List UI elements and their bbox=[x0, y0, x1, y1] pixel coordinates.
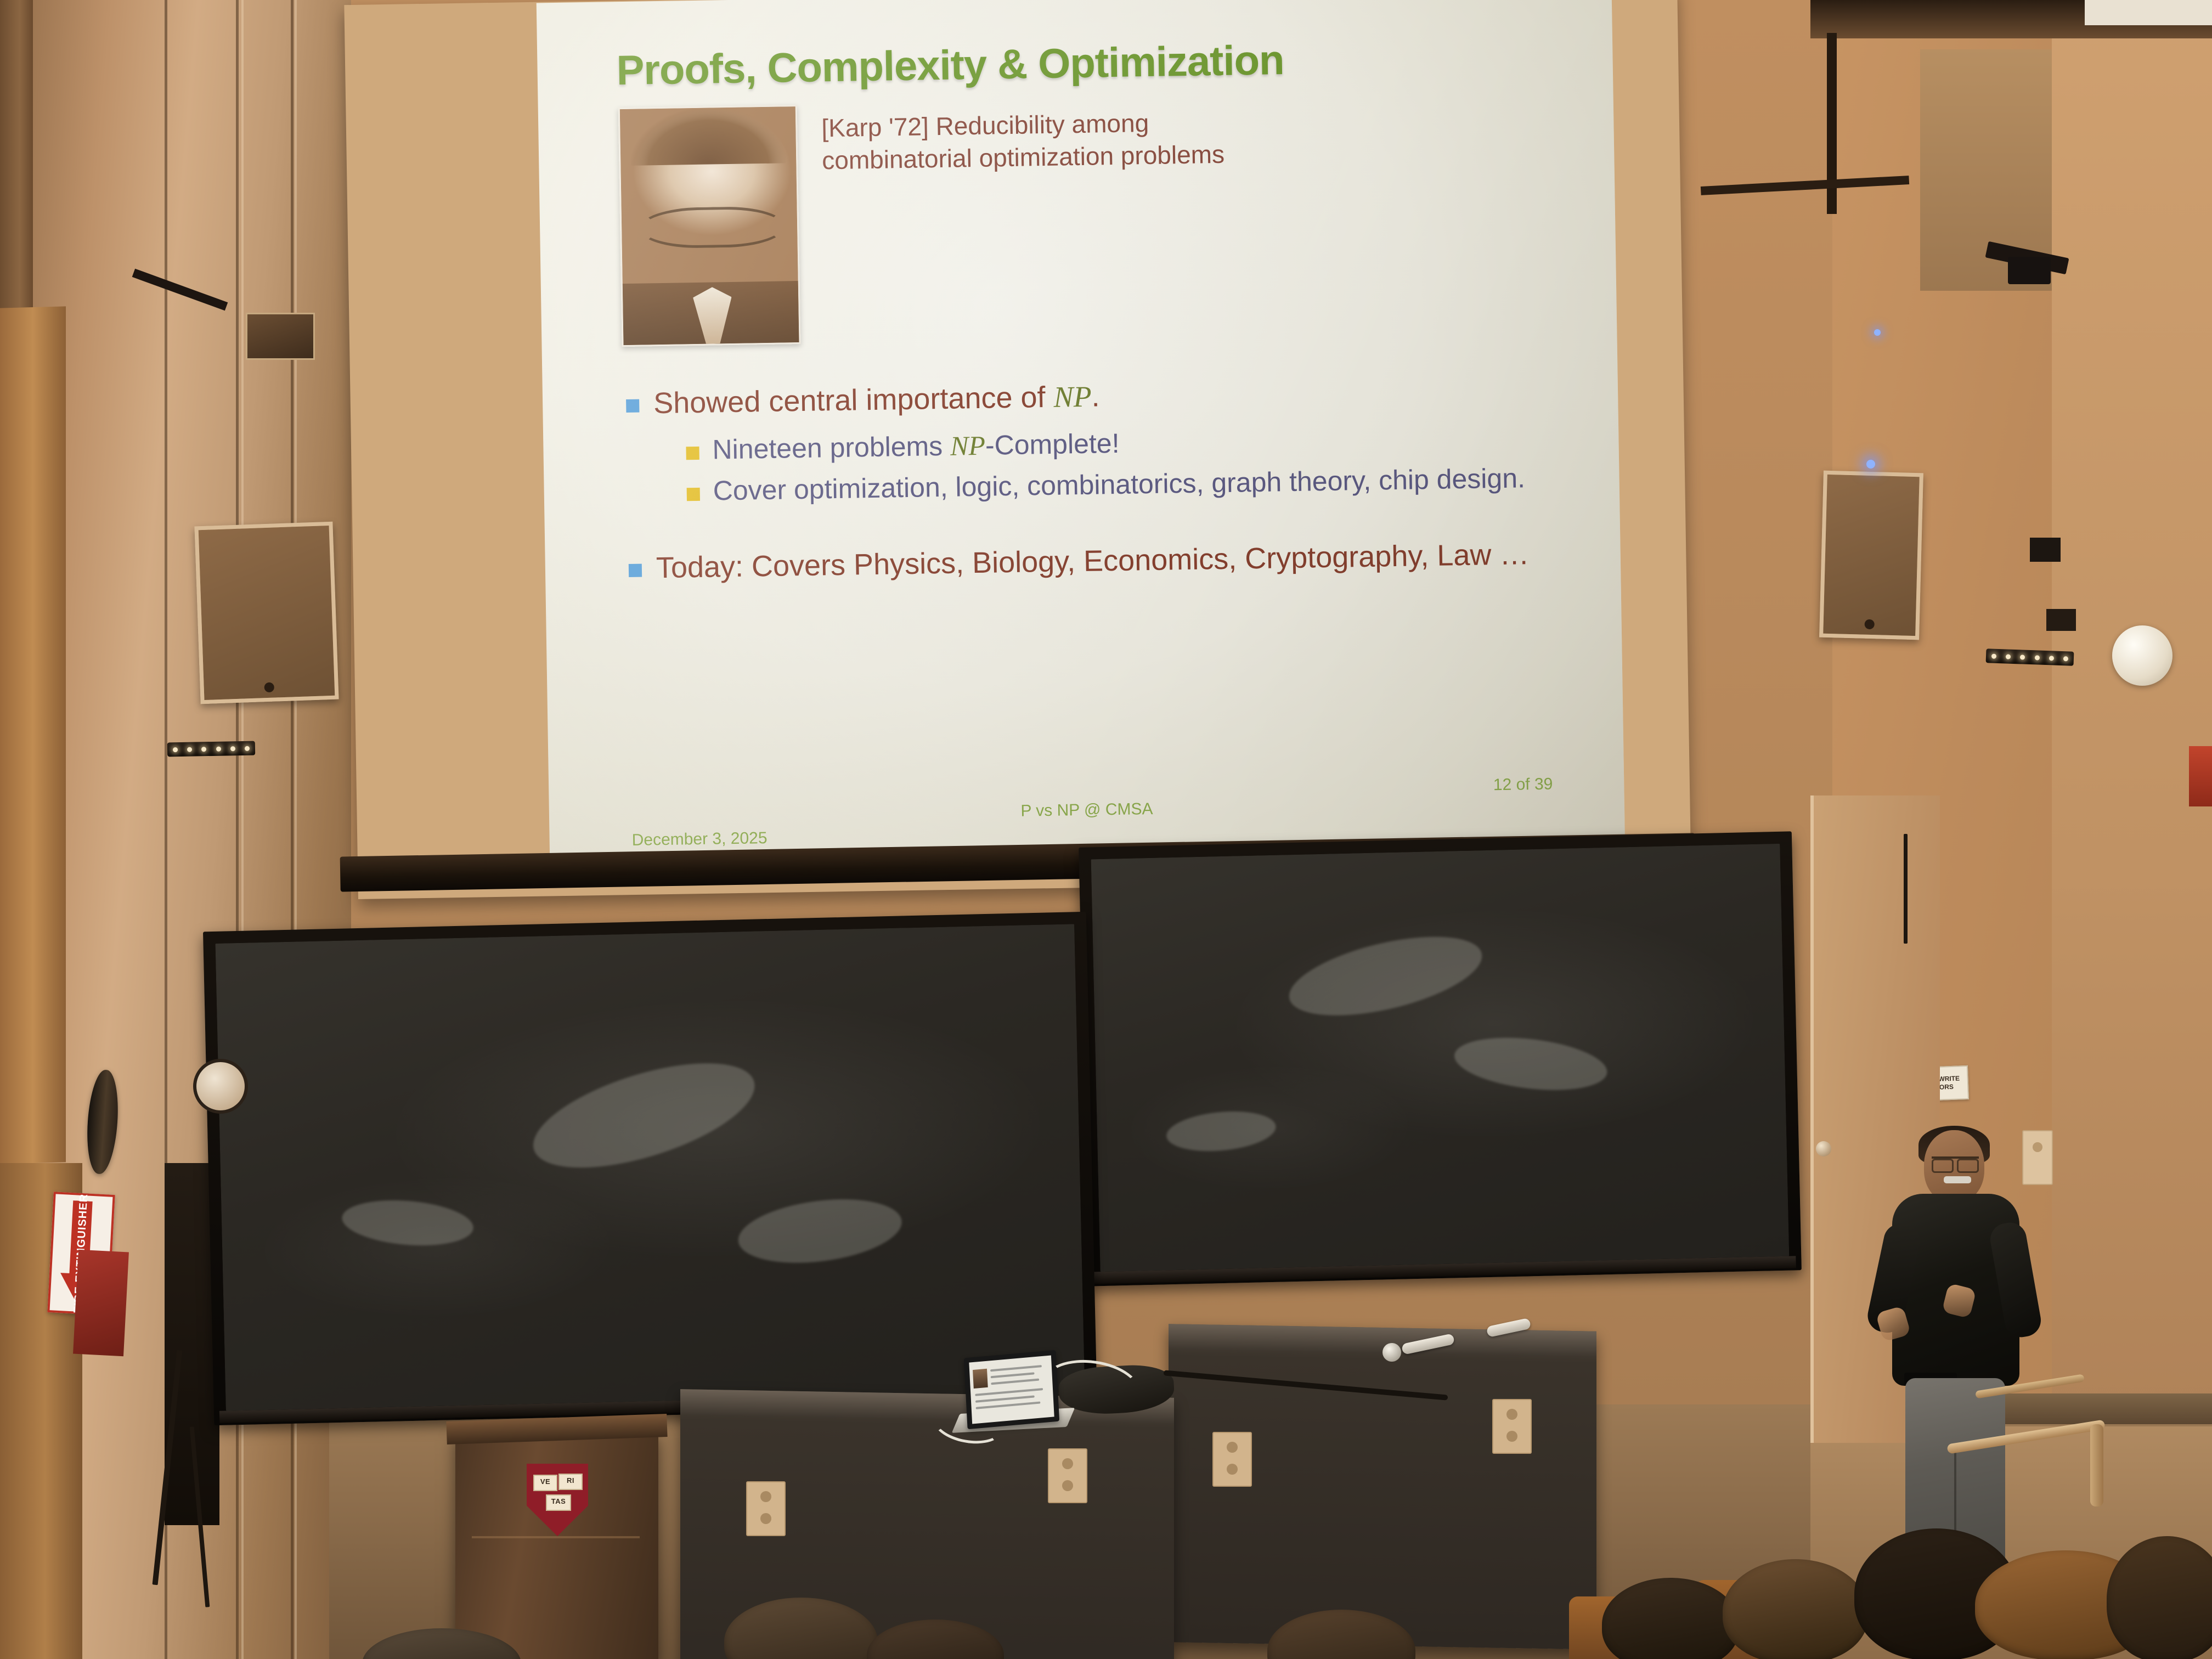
bullet-text: Cover optimization, logic, combinatorics… bbox=[713, 461, 1525, 507]
laptop-screen-textline bbox=[991, 1372, 1035, 1378]
bullet-item: Nineteen problems NP-Complete! bbox=[686, 419, 1588, 467]
laptop-screen-textline bbox=[976, 1402, 1041, 1409]
lecturer-mustache bbox=[1944, 1176, 1971, 1183]
bullet-item: Cover optimization, logic, combinatorics… bbox=[686, 460, 1589, 508]
projector-mount-box bbox=[2008, 257, 2051, 284]
speaker-knob bbox=[1864, 619, 1874, 629]
karp-portrait-image bbox=[618, 105, 801, 347]
door-knob[interactable] bbox=[1816, 1141, 1831, 1156]
chalk-smudge bbox=[1165, 1107, 1278, 1155]
crest-book-2-text: RI bbox=[560, 1475, 582, 1487]
bullet-marker-square-icon bbox=[686, 447, 699, 460]
chalk-smudge bbox=[1282, 922, 1489, 1031]
status-led-indicator bbox=[1866, 460, 1875, 469]
bullet-text-before: Nineteen problems bbox=[712, 431, 950, 465]
slide-footer-title: P vs NP @ CMSA bbox=[1020, 800, 1153, 821]
bullet-item: Today: Covers Physics, Biology, Economic… bbox=[628, 535, 1590, 586]
chalk-smudge bbox=[1452, 1030, 1610, 1097]
laptop-screen-textline bbox=[990, 1365, 1042, 1372]
laptop-screen-textline bbox=[975, 1395, 1035, 1402]
crest-book-2: RI bbox=[558, 1474, 583, 1490]
bullet-item: Showed central importance of NP. bbox=[626, 371, 1588, 422]
lecturer bbox=[1863, 1130, 2044, 1591]
chalk-smudge bbox=[522, 1042, 766, 1189]
podium: VE RI TAS bbox=[455, 1432, 658, 1659]
ceiling-light-strip-left bbox=[167, 741, 255, 757]
crest-book-1-text: VE bbox=[534, 1476, 556, 1488]
slide-content: Proofs, Complexity & Optimization [Karp … bbox=[537, 0, 1626, 870]
chalkboard-surface bbox=[1091, 844, 1790, 1272]
slide-footer-date: December 3, 2025 bbox=[631, 829, 767, 850]
projected-slide: Proofs, Complexity & Optimization [Karp … bbox=[537, 0, 1626, 870]
laptop-screen-thumbnail bbox=[973, 1369, 988, 1389]
audience-head bbox=[1723, 1559, 1868, 1659]
karp-citation-line-2: combinatorial optimization problems bbox=[822, 138, 1225, 177]
wall-vent bbox=[246, 313, 315, 360]
chalkboard-surface bbox=[215, 924, 1085, 1410]
portrait-hair bbox=[630, 106, 786, 166]
handrail-post bbox=[2090, 1424, 2103, 1506]
ceiling-tile bbox=[2085, 0, 2212, 25]
bullet-text-after: . bbox=[1091, 380, 1100, 413]
demo-desk-right bbox=[1169, 1324, 1596, 1650]
harvard-veritas-crest-icon: VE RI TAS bbox=[527, 1464, 588, 1536]
lecturer-glasses bbox=[1932, 1156, 1979, 1171]
slide-bullet-list: Showed central importance of NP. Ninetee… bbox=[626, 371, 1590, 586]
slide-title: Proofs, Complexity & Optimization bbox=[616, 32, 1582, 95]
lecture-hall-photo: Proofs, Complexity & Optimization [Karp … bbox=[0, 0, 2212, 1659]
left-wood-panel-upper bbox=[0, 306, 66, 1164]
bullet-text-after: -Complete! bbox=[985, 428, 1120, 461]
chalkboard-left bbox=[203, 912, 1097, 1425]
wall-clock-secondary bbox=[193, 1059, 248, 1114]
microphone-head bbox=[1383, 1343, 1401, 1362]
desk-outlet bbox=[746, 1481, 786, 1536]
karp-block: [Karp '72] Reducibility among combinator… bbox=[618, 93, 1587, 347]
portrait-glasses bbox=[639, 206, 786, 249]
np-emphasis: NP bbox=[950, 430, 986, 461]
dome-light-fixture bbox=[2112, 625, 2172, 686]
crest-book-1: VE bbox=[533, 1475, 557, 1491]
karp-citation: [Karp '72] Reducibility among combinator… bbox=[821, 98, 1225, 177]
bullet-marker-square-icon bbox=[687, 488, 700, 501]
far-right-wall bbox=[2052, 0, 2212, 1580]
bullet-marker-square-icon bbox=[629, 563, 642, 577]
wall-speaker-right bbox=[1819, 471, 1923, 640]
desk-outlet bbox=[1048, 1448, 1087, 1503]
bullet-text: Nineteen problems NP-Complete! bbox=[712, 427, 1120, 467]
crest-book-3-text: TAS bbox=[547, 1496, 570, 1508]
np-emphasis: NP bbox=[1053, 380, 1092, 414]
crest-book-3: TAS bbox=[546, 1494, 571, 1511]
ceiling-light-strip-right bbox=[1986, 648, 2074, 666]
wall-cable bbox=[1904, 834, 1908, 944]
light-strip-lamps bbox=[173, 744, 250, 754]
bullet-text: Showed central importance of NP. bbox=[653, 379, 1100, 422]
chalk-smudge bbox=[340, 1195, 475, 1250]
wall-speaker-left bbox=[194, 522, 338, 704]
status-led-indicator bbox=[1874, 329, 1881, 336]
desk-outlet bbox=[1492, 1399, 1532, 1454]
speaker-knob bbox=[264, 682, 274, 693]
fire-extinguisher-cabinet bbox=[73, 1250, 129, 1357]
chalk-smudge bbox=[734, 1191, 905, 1272]
exit-light-box bbox=[2189, 746, 2212, 806]
light-strip-lamps bbox=[1991, 652, 2068, 663]
bullet-text-before: Showed central importance of bbox=[653, 381, 1054, 420]
wall-mounted-device bbox=[2030, 538, 2061, 562]
wall-mounted-device bbox=[2046, 609, 2076, 631]
bullet-marker-square-icon bbox=[626, 399, 639, 413]
laptop-screen-textline bbox=[991, 1379, 1039, 1385]
slide-page-number: 12 of 39 bbox=[1493, 775, 1553, 795]
desk-outlet bbox=[1212, 1432, 1252, 1487]
chalkboard-right bbox=[1079, 831, 1802, 1286]
bullet-text: Today: Covers Physics, Biology, Economic… bbox=[656, 537, 1529, 586]
